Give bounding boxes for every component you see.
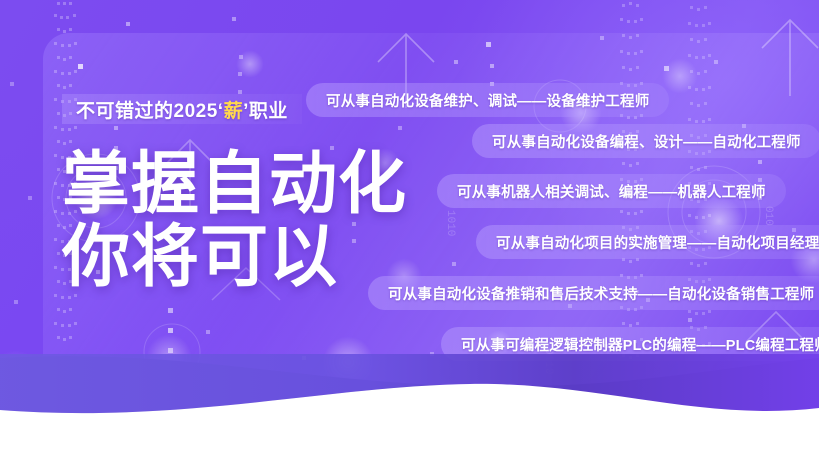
career-pill-1[interactable]: 可从事自动化设备维护、调试——设备维护工程师 [306, 83, 669, 117]
headline-line-1: 掌握自动化 [62, 152, 407, 217]
poster-banner: 1010 010 0110 不可 [0, 0, 819, 462]
headline-line-2: 你将可以 [62, 225, 407, 290]
bottom-wave-decoration [0, 352, 819, 462]
subtitle-suffix: 职业 [249, 101, 288, 122]
career-pill-5[interactable]: 可从事自动化设备推销和售后技术支持——自动化设备销售工程师 [368, 276, 819, 310]
subtitle-highlight-char: 薪 [224, 101, 244, 122]
career-pill-3[interactable]: 可从事机器人相关调试、编程——机器人工程师 [437, 174, 786, 208]
subtitle-banner: 不可错过的2025‘薪’职业 [62, 94, 302, 124]
subtitle-prefix: 不可错过的2025 [76, 101, 218, 122]
subtitle-text: 不可错过的2025‘薪’职业 [76, 96, 288, 123]
career-pill-2[interactable]: 可从事自动化设备编程、设计——自动化工程师 [472, 124, 819, 158]
page-title: 掌握自动化 你将可以 [62, 152, 407, 289]
career-pill-4[interactable]: 可从事自动化项目的实施管理——自动化项目经理 [476, 225, 819, 259]
